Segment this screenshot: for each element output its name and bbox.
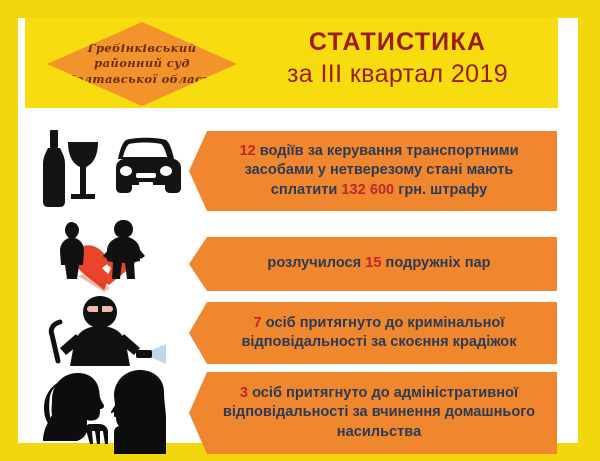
stat-body-thefts: осіб притягнуто до кримінальної відповід… [241, 315, 516, 350]
wine-bottle-glass-car-icon [32, 126, 182, 214]
stat-text-divorces: розлучилося 15 подружніх пар [267, 254, 490, 273]
broken-heart-couple-icon [38, 214, 180, 296]
stat-number-fine: 132 600 [341, 182, 394, 198]
stat-text-drivers: 12 водіїв за керування транспортними зас… [215, 142, 543, 200]
infographic-poster: Гребінківський районний суд Полтавської … [0, 0, 600, 461]
masked-burglar-crowbar-icon [40, 294, 180, 366]
court-emblem-diamond: Гребінківський районний суд Полтавської … [47, 22, 237, 106]
stat-text-domestic-violence: 3 осіб притягнуто до адміністративної ві… [215, 384, 543, 442]
stat-text-thefts: 7 осіб притягнуто до кримінальної відпов… [215, 314, 543, 353]
stat-number-domestic-violence: 3 [240, 385, 248, 401]
stat-number-drivers: 12 [239, 143, 255, 159]
stat-number-thefts: 7 [254, 315, 262, 331]
header-band: Гребінківський районний суд Полтавської … [25, 18, 558, 108]
title-main: СТАТИСТИКА [240, 26, 555, 58]
arguing-couple-icon [34, 366, 182, 454]
stat-number-divorces: 15 [365, 255, 381, 271]
stat-body-drivers-b: грн. штрафу [394, 182, 487, 198]
title-subtitle: за III квартал 2019 [240, 58, 555, 91]
stat-banner-thefts: 7 осіб притягнуто до кримінальної відпов… [189, 302, 557, 364]
stat-banner-drivers: 12 водіїв за керування транспортними зас… [189, 131, 557, 211]
emblem-line-1: Гребінківський [88, 42, 197, 56]
stat-banner-divorces: розлучилося 15 подружніх пар [189, 237, 557, 291]
stat-banner-domestic-violence: 3 осіб притягнуто до адміністративної ві… [189, 372, 557, 454]
poster-inner-canvas: Гребінківський районний суд Полтавської … [18, 18, 578, 443]
stat-body-divorces-b: подружніх пар [381, 255, 490, 271]
stat-body-divorces-a: розлучилося [267, 255, 365, 271]
emblem-line-3: Полтавської області [64, 73, 220, 87]
page-title: СТАТИСТИКА за III квартал 2019 [240, 26, 555, 91]
stat-body-domestic-violence: осіб притягнуто до адміністративної відп… [223, 385, 535, 440]
emblem-line-2: районний суд [94, 57, 190, 71]
